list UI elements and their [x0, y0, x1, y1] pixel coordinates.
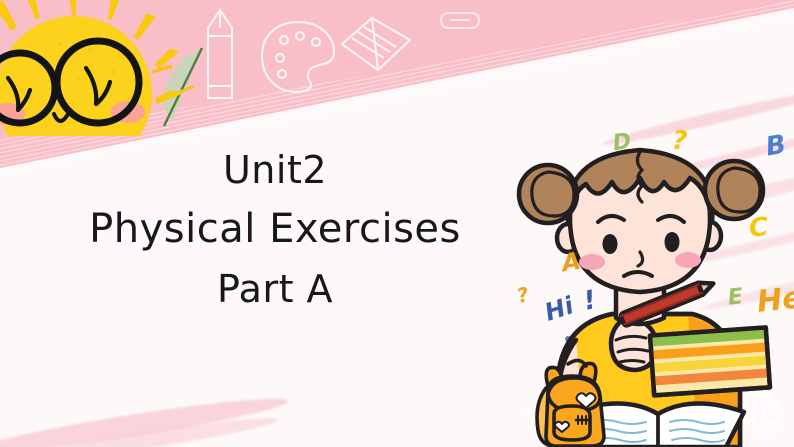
slide-canvas: ♥ ♥ ♥ ♥ ♥ ♥ ♥ ♥	[0, 0, 794, 447]
backpack-icon	[528, 348, 614, 447]
letter-hel: Hel	[756, 282, 794, 318]
title-line-subject: Physical Exercises	[40, 198, 510, 260]
title-line-unit: Unit2	[40, 142, 510, 198]
title-line-part: Part A	[40, 260, 510, 318]
pencil-outline-icon	[202, 6, 238, 106]
title-block: Unit2 Physical Exercises Part A	[40, 142, 510, 318]
open-book-outline-icon	[338, 14, 414, 76]
letter-a: A	[560, 249, 582, 276]
letter-e: E	[727, 286, 744, 309]
letter-question-top: ?	[671, 128, 688, 155]
letter-c: C	[748, 214, 769, 241]
eraser-outline-icon	[438, 8, 482, 34]
letter-d: D	[612, 131, 633, 155]
letter-b: B	[764, 131, 788, 160]
paint-palette-outline-icon	[258, 18, 338, 96]
sun-character-icon	[0, 0, 197, 136]
